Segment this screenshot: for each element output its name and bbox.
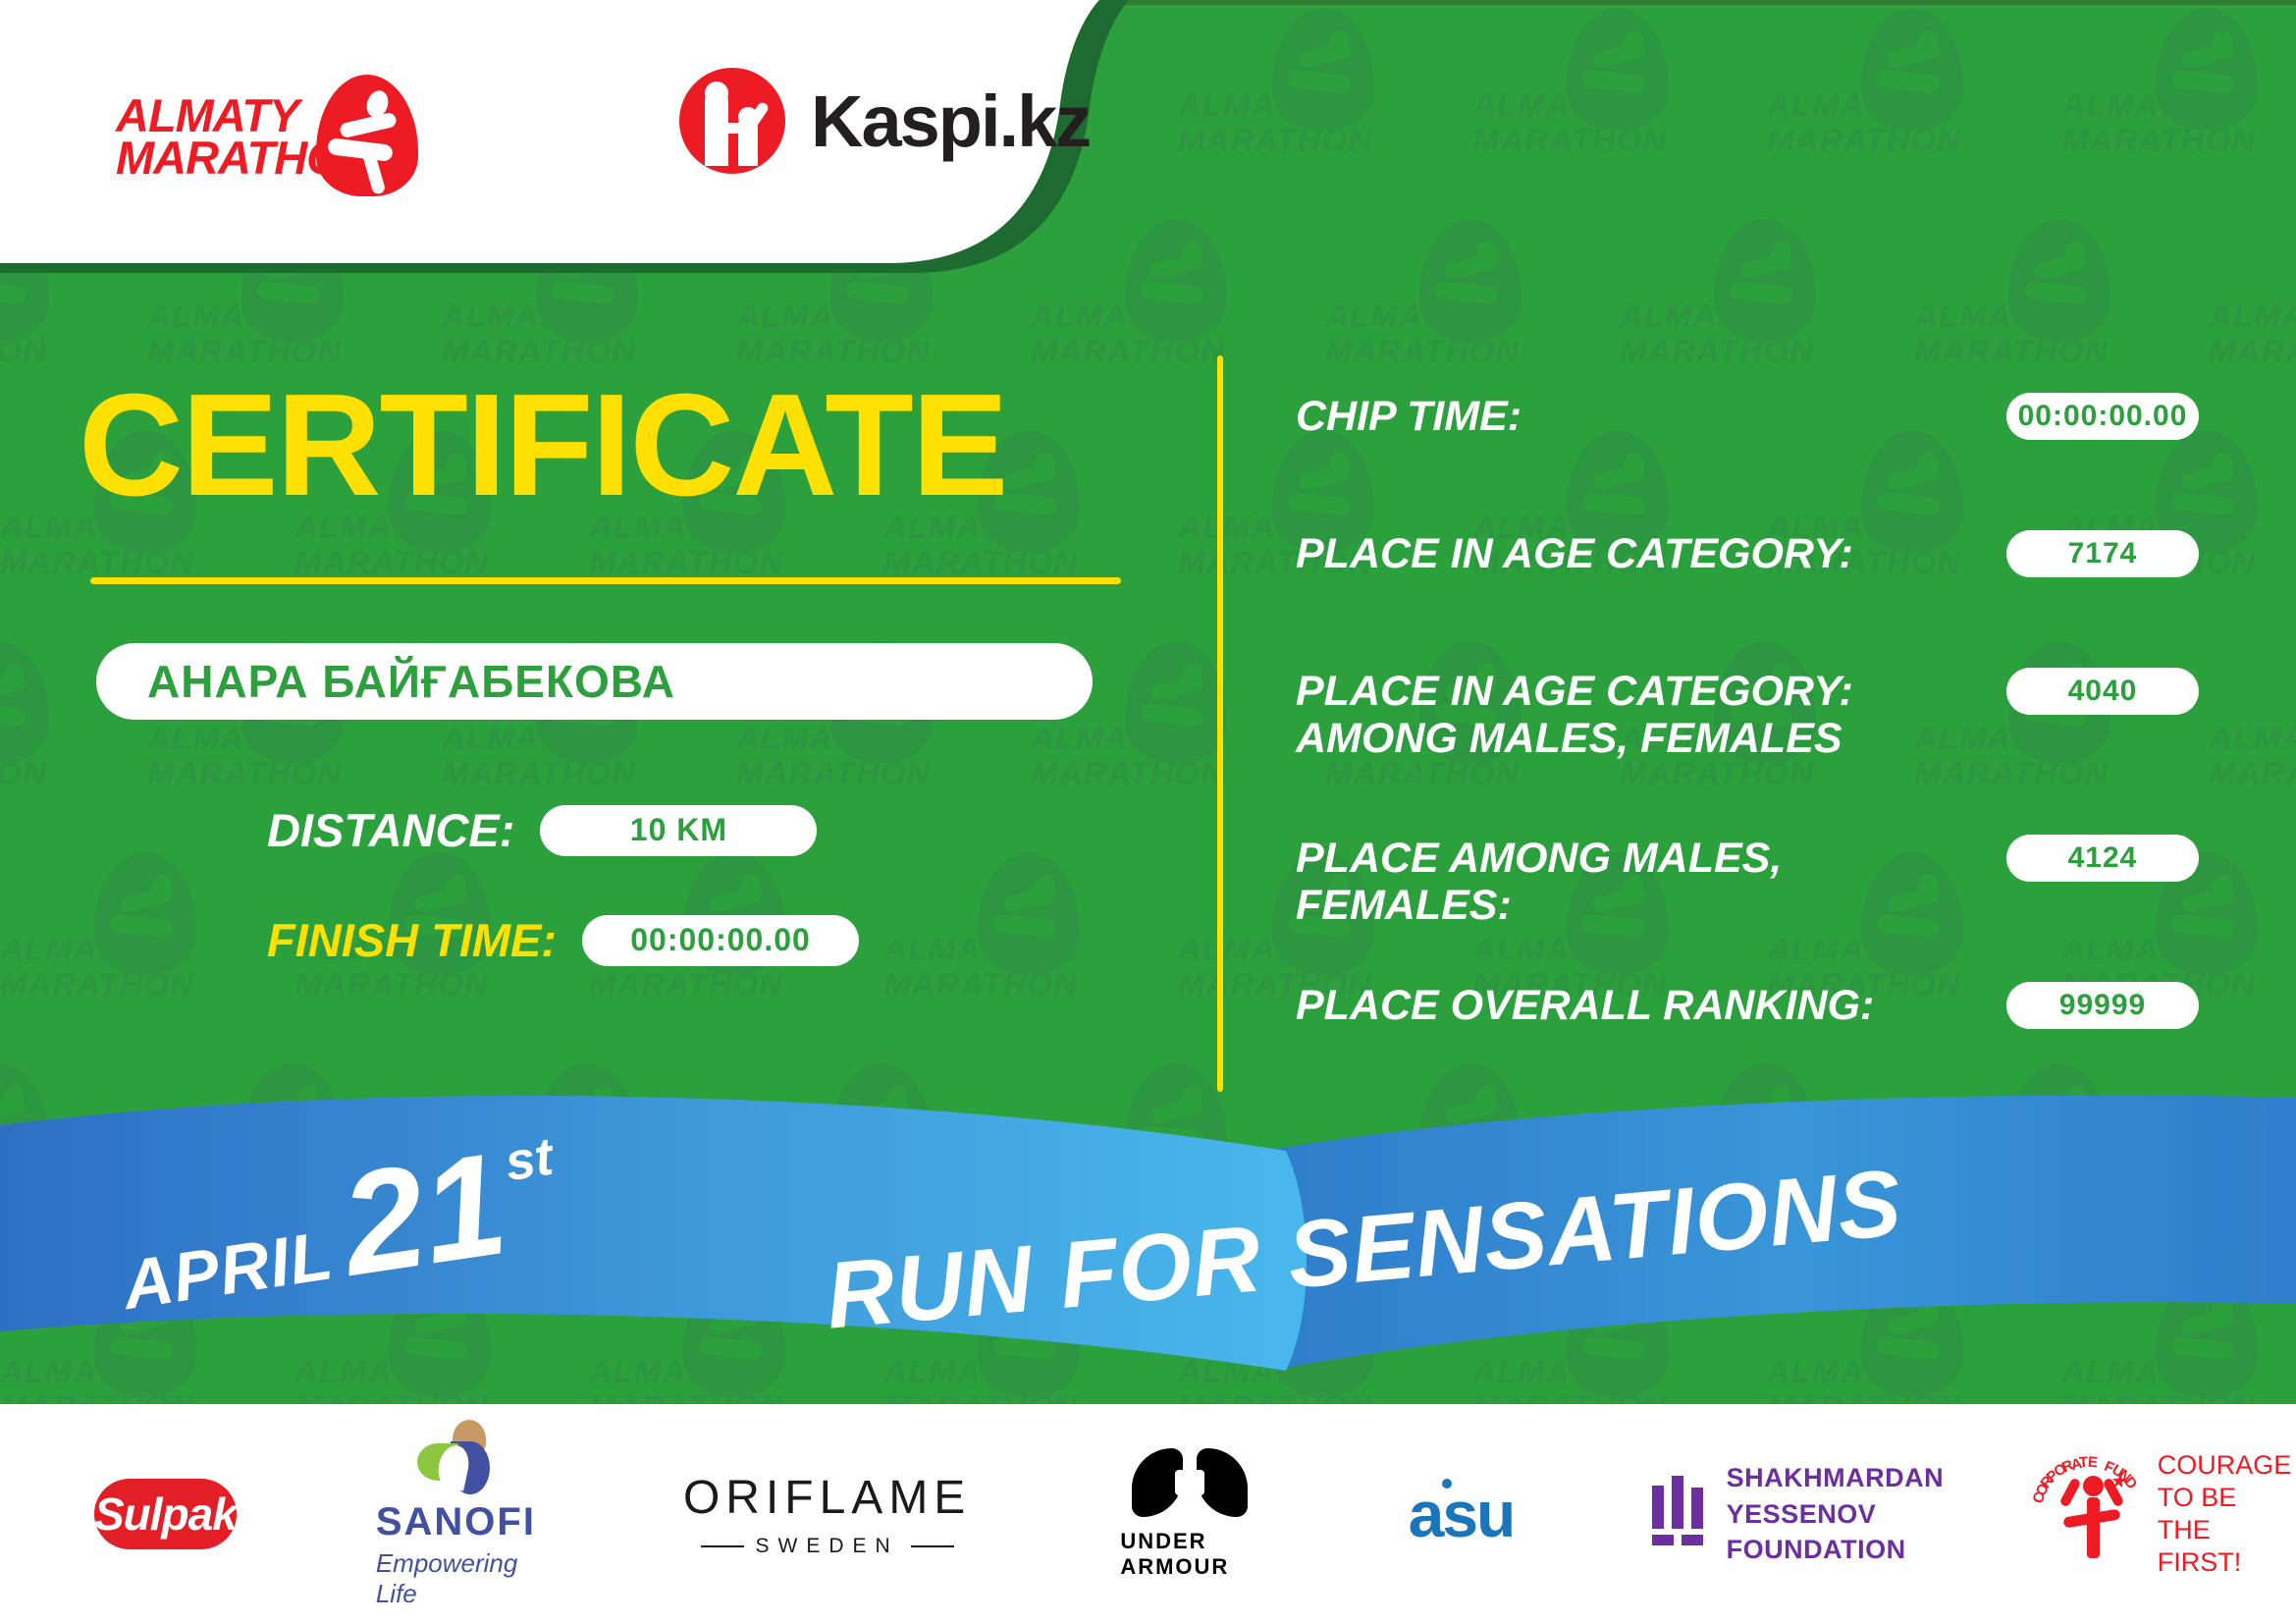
under-armour-mark-icon xyxy=(1132,1448,1248,1517)
event-day: 21 xyxy=(334,1138,513,1291)
kaspi-people-circle-icon xyxy=(679,68,785,174)
watermark-tile: ALMATYMARATHON xyxy=(0,844,226,1056)
place-among-males-females-value: 4124 xyxy=(2006,835,2199,882)
almaty-marathon-logo: ALMATY MARATHON xyxy=(116,61,430,187)
watermark-tile: ALMATYMARATHON xyxy=(1472,0,1698,211)
sponsor-logo-under-armour: UNDER ARMOUR xyxy=(1120,1448,1258,1580)
corporate-fund-mark-icon: CORPORATE FUND ★ xyxy=(2030,1460,2143,1568)
sponsor-logo-yessenov-foundation: SHAKHMARDAN YESSENOV FOUNDATION xyxy=(1648,1460,1972,1567)
distance-row: DISTANCE: 10 KM xyxy=(267,803,817,857)
watermark-tile: ALMATYMARATHON xyxy=(883,844,1109,1056)
oriflame-sub-row: SWEDEN xyxy=(683,1535,971,1558)
corporate-fund-line2: TO BE xyxy=(2158,1482,2296,1514)
sponsor-logo-corporate-fund: CORPORATE FUND ★ COURAGE TO BE THE FIRST… xyxy=(2030,1449,2296,1579)
place-in-age-category-among-row: PLACE IN AGE CATEGORY: AMONG MALES, FEMA… xyxy=(1296,668,2199,762)
chip-time-value: 00:00:00.00 xyxy=(2006,393,2199,440)
sponsors-bar: Sulpak SANOFI Empowering Life ORIFLAME S… xyxy=(0,1404,2296,1624)
watermark-tile: ALMATYMARATHON xyxy=(1620,211,1845,422)
kaspi-logo: Kaspi.kz xyxy=(679,67,1090,175)
distance-label: DISTANCE: xyxy=(267,803,514,857)
asu-label: asu xyxy=(1409,1477,1515,1551)
watermark-tile: ALMATYMARATHON xyxy=(1914,211,2140,422)
under-armour-label: UNDER ARMOUR xyxy=(1120,1529,1258,1580)
finish-time-row: FINISH TIME: 00:00:00.00 xyxy=(267,913,859,967)
watermark-tile: ALMATYMARATHON xyxy=(2209,211,2296,422)
place-overall-ranking-label: PLACE OVERALL RANKING: xyxy=(1296,982,1983,1029)
place-in-age-category-label: PLACE IN AGE CATEGORY: xyxy=(1296,530,1983,577)
watermark-tile: ALMATYMARATHON xyxy=(1767,422,1993,633)
chip-time-row: CHIP TIME: 00:00:00.00 xyxy=(1296,393,2199,440)
place-in-age-category-among-value: 4040 xyxy=(2006,668,2199,715)
corporate-fund-line1: COURAGE xyxy=(2158,1449,2296,1482)
watermark-tile: ALMATYMARATHON xyxy=(2061,422,2287,633)
kaspi-logo-text: Kaspi.kz xyxy=(811,80,1090,163)
oriflame-sub-label: SWEDEN xyxy=(756,1535,899,1558)
participant-name-field: АНАРА БАЙҒАБЕКОВА xyxy=(96,643,1093,720)
place-overall-ranking-value: 99999 xyxy=(2006,982,2199,1029)
certificate-canvas: ALMATYMARATHONALMATYMARATHONALMATYMARATH… xyxy=(0,0,2296,1624)
place-in-age-category-among-label: PLACE IN AGE CATEGORY: AMONG MALES, FEMA… xyxy=(1296,668,1983,762)
sanofi-mark-icon xyxy=(413,1420,498,1496)
watermark-tile: ALMATYMARATHON xyxy=(1178,422,1404,633)
yessenov-label-line1: SHAKHMARDAN YESSENOV xyxy=(1727,1460,1972,1532)
asu-label-text: asu xyxy=(1409,1478,1515,1550)
sponsor-logo-oriflame: ORIFLAME SWEDEN xyxy=(683,1471,971,1558)
finish-time-label: FINISH TIME: xyxy=(267,913,557,967)
yessenov-label-line2: FOUNDATION xyxy=(1727,1532,1972,1567)
watermark-tile: ALMATYMARATHON xyxy=(1472,422,1698,633)
corporate-fund-line3: THE FIRST! xyxy=(2158,1514,2296,1579)
watermark-tile: ALMATYMARATHON xyxy=(2061,0,2287,211)
distance-value: 10 KM xyxy=(540,805,817,856)
sponsor-logo-sulpak: Sulpak xyxy=(94,1479,237,1549)
place-overall-ranking-row: PLACE OVERALL RANKING: 99999 xyxy=(1296,982,2199,1029)
watermark-tile: ALMATYMARATHON xyxy=(2209,633,2296,844)
place-among-males-females-row: PLACE AMONG MALES, FEMALES: 4124 xyxy=(1296,835,2199,929)
vertical-divider xyxy=(1217,355,1223,1092)
place-in-age-category-row: PLACE IN AGE CATEGORY: 7174 xyxy=(1296,530,2199,577)
oriflame-label: ORIFLAME xyxy=(683,1471,971,1525)
participant-name-value: АНАРА БАЙҒАБЕКОВА xyxy=(147,655,675,708)
title-underline xyxy=(90,577,1121,584)
event-day-ordinal: st xyxy=(502,1126,558,1193)
watermark-tile: ALMATYMARATHON xyxy=(1767,0,1993,211)
watermark-tile: ALMATYMARATHON xyxy=(1325,211,1551,422)
sanofi-label: SANOFI xyxy=(376,1500,536,1544)
sponsor-logo-sanofi: SANOFI Empowering Life xyxy=(376,1420,536,1609)
runner-teardrop-icon xyxy=(316,75,418,196)
corporate-fund-label: COURAGE TO BE THE FIRST! xyxy=(2158,1449,2296,1579)
sponsor-logo-asu: asu xyxy=(1398,1477,1524,1551)
place-in-age-category-value: 7174 xyxy=(2006,530,2199,577)
sulpak-label: Sulpak xyxy=(94,1488,237,1541)
yessenov-mark-icon xyxy=(1648,1474,1701,1554)
yessenov-label: SHAKHMARDAN YESSENOV FOUNDATION xyxy=(1727,1460,1972,1567)
chip-time-label: CHIP TIME: xyxy=(1296,393,1983,440)
finish-time-value: 00:00:00.00 xyxy=(582,915,859,966)
place-among-males-females-label: PLACE AMONG MALES, FEMALES: xyxy=(1296,835,1983,929)
sanofi-tagline: Empowering Life xyxy=(376,1548,536,1609)
corporate-fund-figure-icon: ★ xyxy=(2067,1476,2118,1560)
watermark-tile: ALMATYMARATHON xyxy=(0,633,79,844)
page-title: CERTIFICATE xyxy=(79,373,1006,518)
